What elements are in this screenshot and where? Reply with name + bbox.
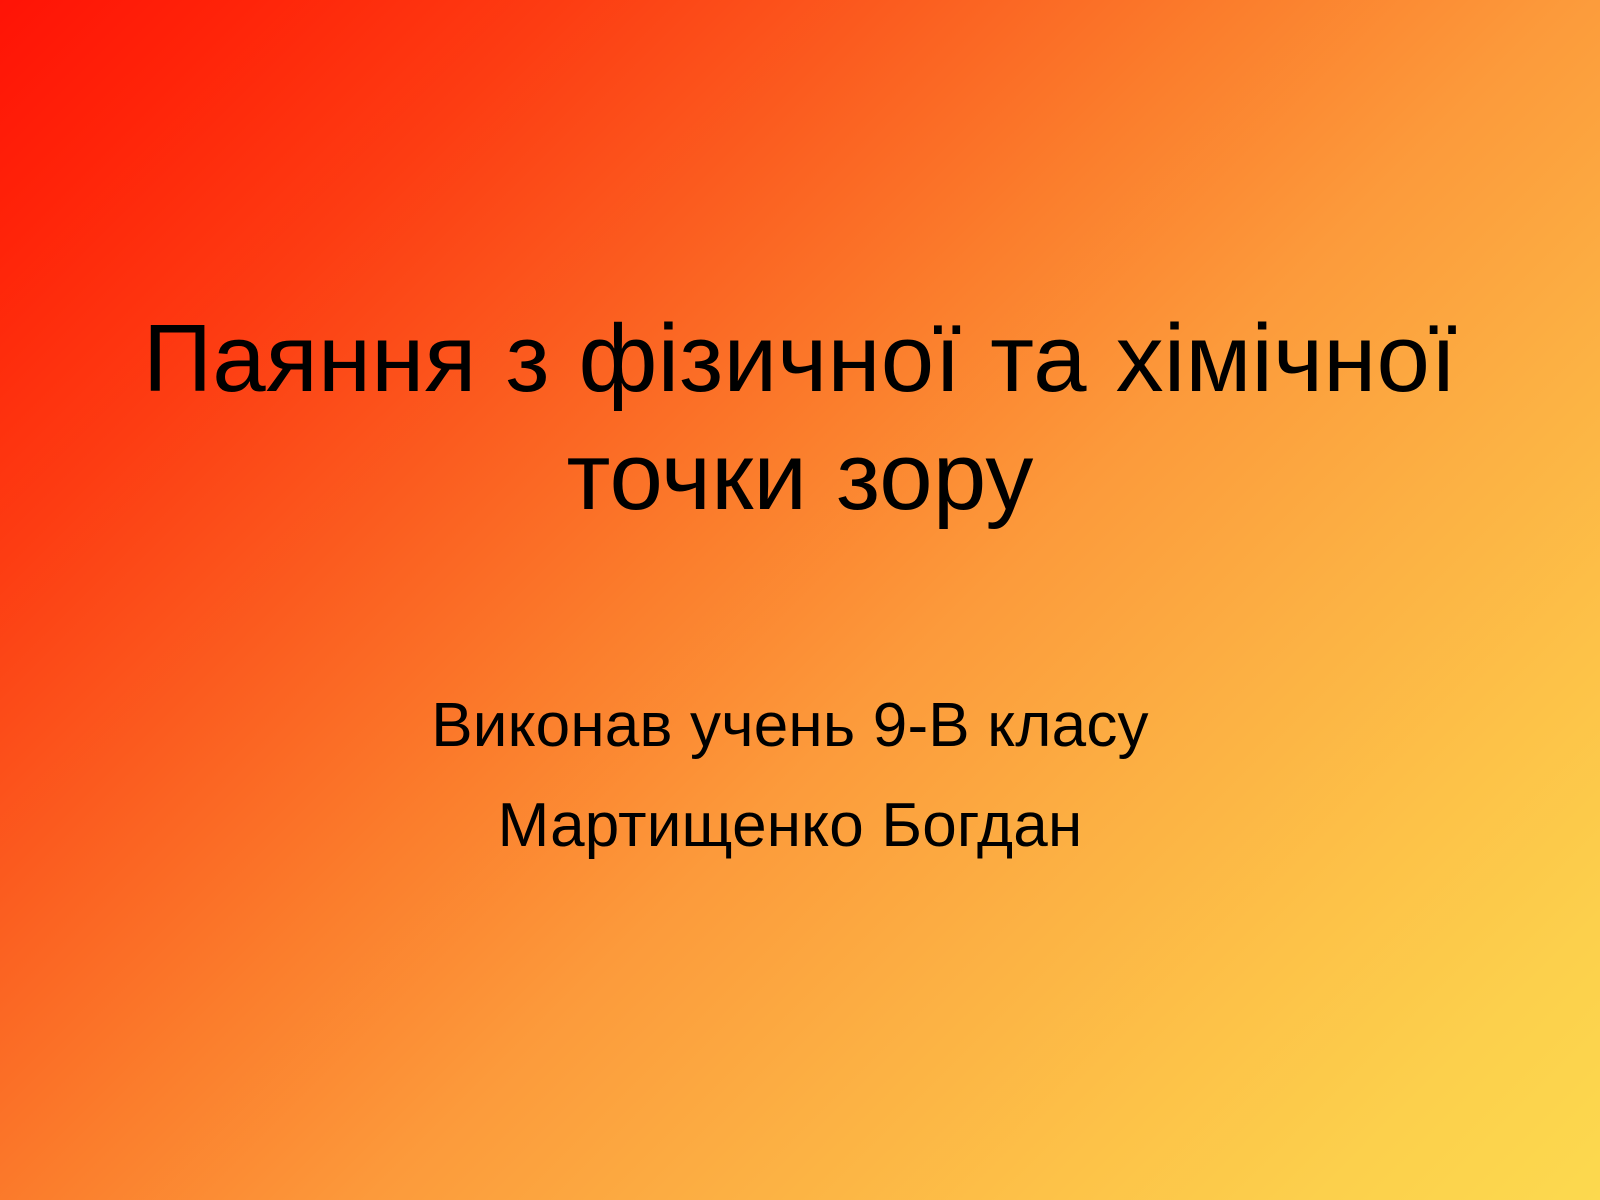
subtitle-line-author-name: Мартищенко Богдан [90, 776, 1490, 876]
slide-canvas: Паяння з фізичної та хімічної точки зору… [0, 0, 1600, 1200]
title-placeholder: Паяння з фізичної та хімічної точки зору [100, 300, 1500, 536]
subtitle-placeholder: Виконав учень 9-В класу Мартищенко Богда… [90, 676, 1490, 877]
subtitle-line-author-role: Виконав учень 9-В класу [90, 676, 1490, 776]
slide-title: Паяння з фізичної та хімічної точки зору [100, 300, 1500, 536]
